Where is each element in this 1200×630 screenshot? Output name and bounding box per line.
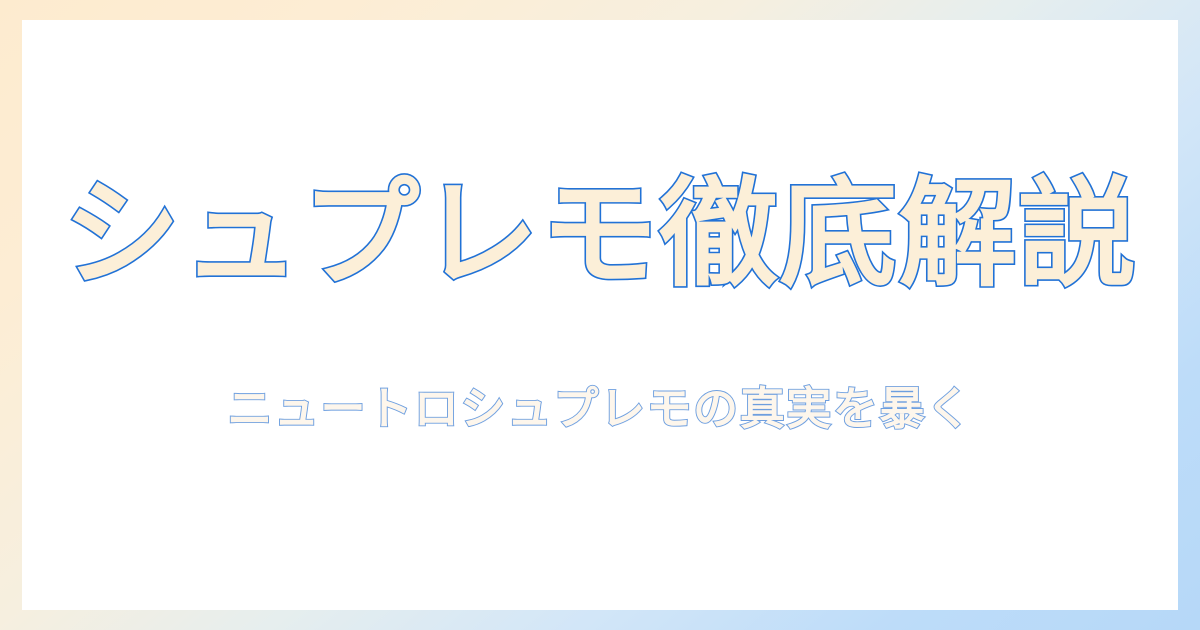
title-container: シュプレモ徹底解説 (22, 168, 1178, 300)
subtitle-container: ニュートロシュプレモの真実を暴く (22, 382, 1178, 436)
gradient-frame: シュプレモ徹底解説 ニュートロシュプレモの真実を暴く (0, 0, 1200, 630)
content-card: シュプレモ徹底解説 ニュートロシュプレモの真実を暴く (22, 20, 1178, 610)
page-title: シュプレモ徹底解説 (63, 168, 1138, 300)
page-subtitle: ニュートロシュプレモの真実を暴く (227, 382, 972, 436)
